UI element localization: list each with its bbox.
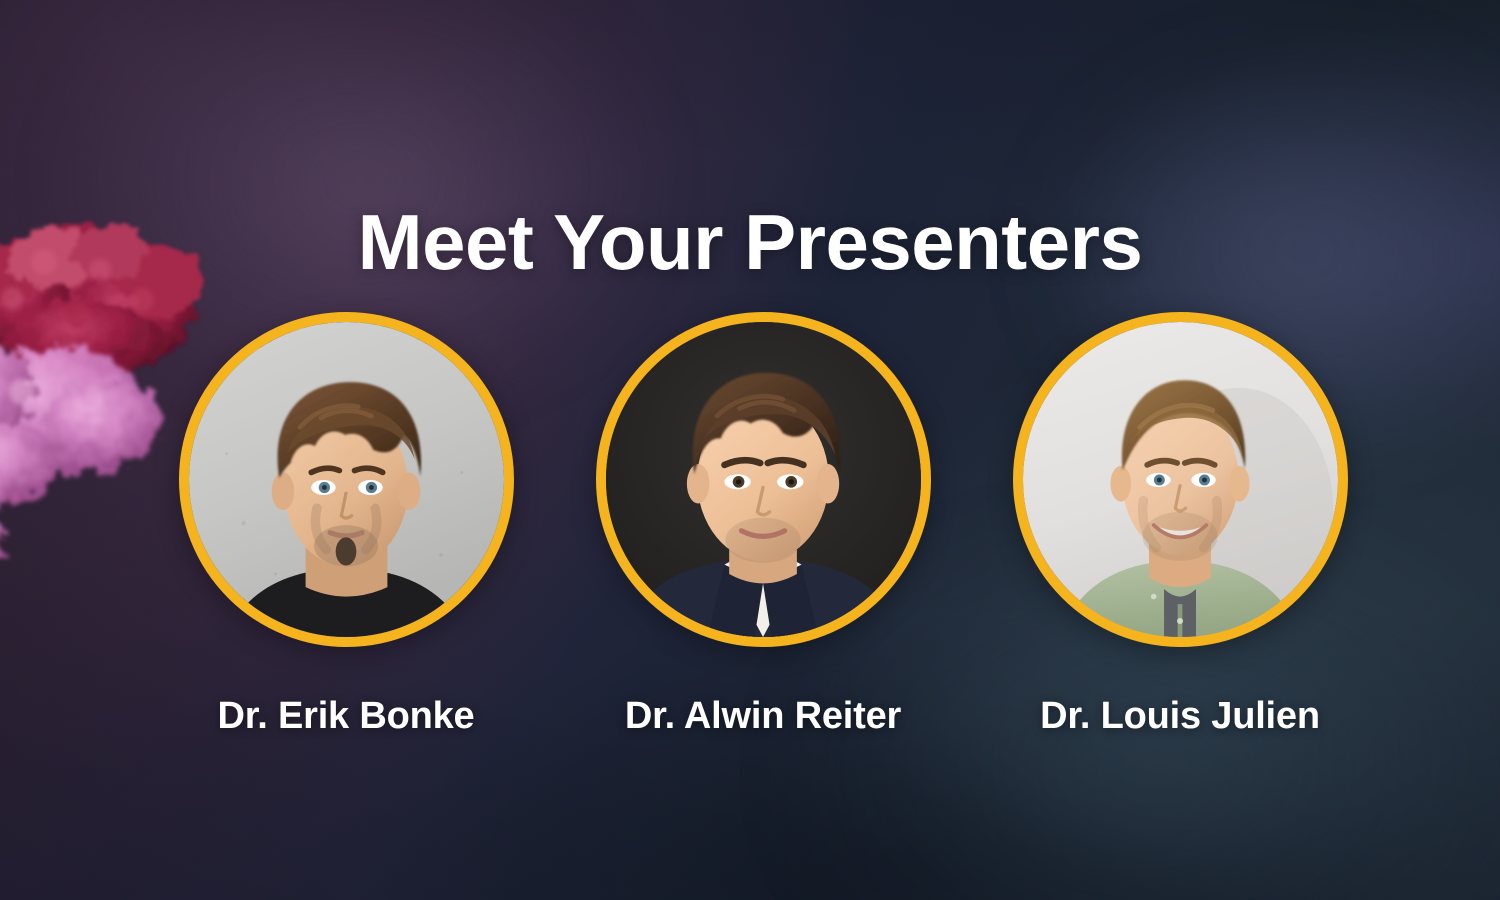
page-title: Meet Your Presenters (0, 202, 1500, 283)
avatar (179, 312, 514, 647)
presenter-name: Dr. Erik Bonke (218, 695, 475, 738)
presenter-name: Dr. Louis Julien (1040, 695, 1320, 738)
avatar (1013, 312, 1348, 647)
presenter-card: Dr. Erik Bonke (176, 312, 516, 738)
presenter-name: Dr. Alwin Reiter (625, 695, 901, 738)
portrait-erik-bonke (189, 322, 504, 637)
portrait-alwin-reiter (606, 322, 921, 637)
avatar (596, 312, 931, 647)
presenter-list: Dr. Erik Bonke (0, 312, 1500, 738)
presenters-slide: Meet Your Presenters (0, 0, 1500, 900)
presenter-card: Dr. Louis Julien (1010, 312, 1350, 738)
portrait-louis-julien (1023, 322, 1338, 637)
presenter-card: Dr. Alwin Reiter (593, 312, 933, 738)
